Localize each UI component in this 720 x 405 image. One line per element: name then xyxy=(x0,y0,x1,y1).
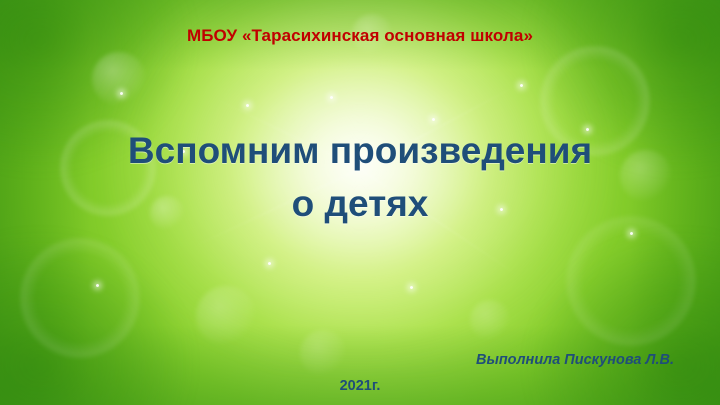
title-line-2: о детях xyxy=(40,178,680,231)
sparkle xyxy=(96,284,99,287)
presentation-slide: МБОУ «Тарасихинская основная школа» Вспо… xyxy=(0,0,720,405)
sparkle xyxy=(630,232,633,235)
bokeh-circle xyxy=(92,52,146,106)
sparkle xyxy=(410,286,413,289)
bokeh-ring xyxy=(566,216,696,346)
bokeh-ring xyxy=(20,238,140,358)
year-label: 2021г. xyxy=(0,378,720,394)
bokeh-circle xyxy=(196,286,256,346)
sparkle xyxy=(520,84,523,87)
sparkle xyxy=(432,118,435,121)
sparkle xyxy=(268,262,271,265)
bokeh-circle xyxy=(300,330,346,376)
title-line-1: Вспомним произведения xyxy=(128,130,592,171)
sparkle xyxy=(246,104,249,107)
sparkle xyxy=(330,96,333,99)
sparkle xyxy=(120,92,123,95)
author-credit: Выполнила Пискунова Л.В. xyxy=(476,352,674,368)
page-title: Вспомним произведения о детях xyxy=(40,125,680,230)
school-name-heading: МБОУ «Тарасихинская основная школа» xyxy=(0,26,720,46)
bokeh-circle xyxy=(470,300,510,340)
